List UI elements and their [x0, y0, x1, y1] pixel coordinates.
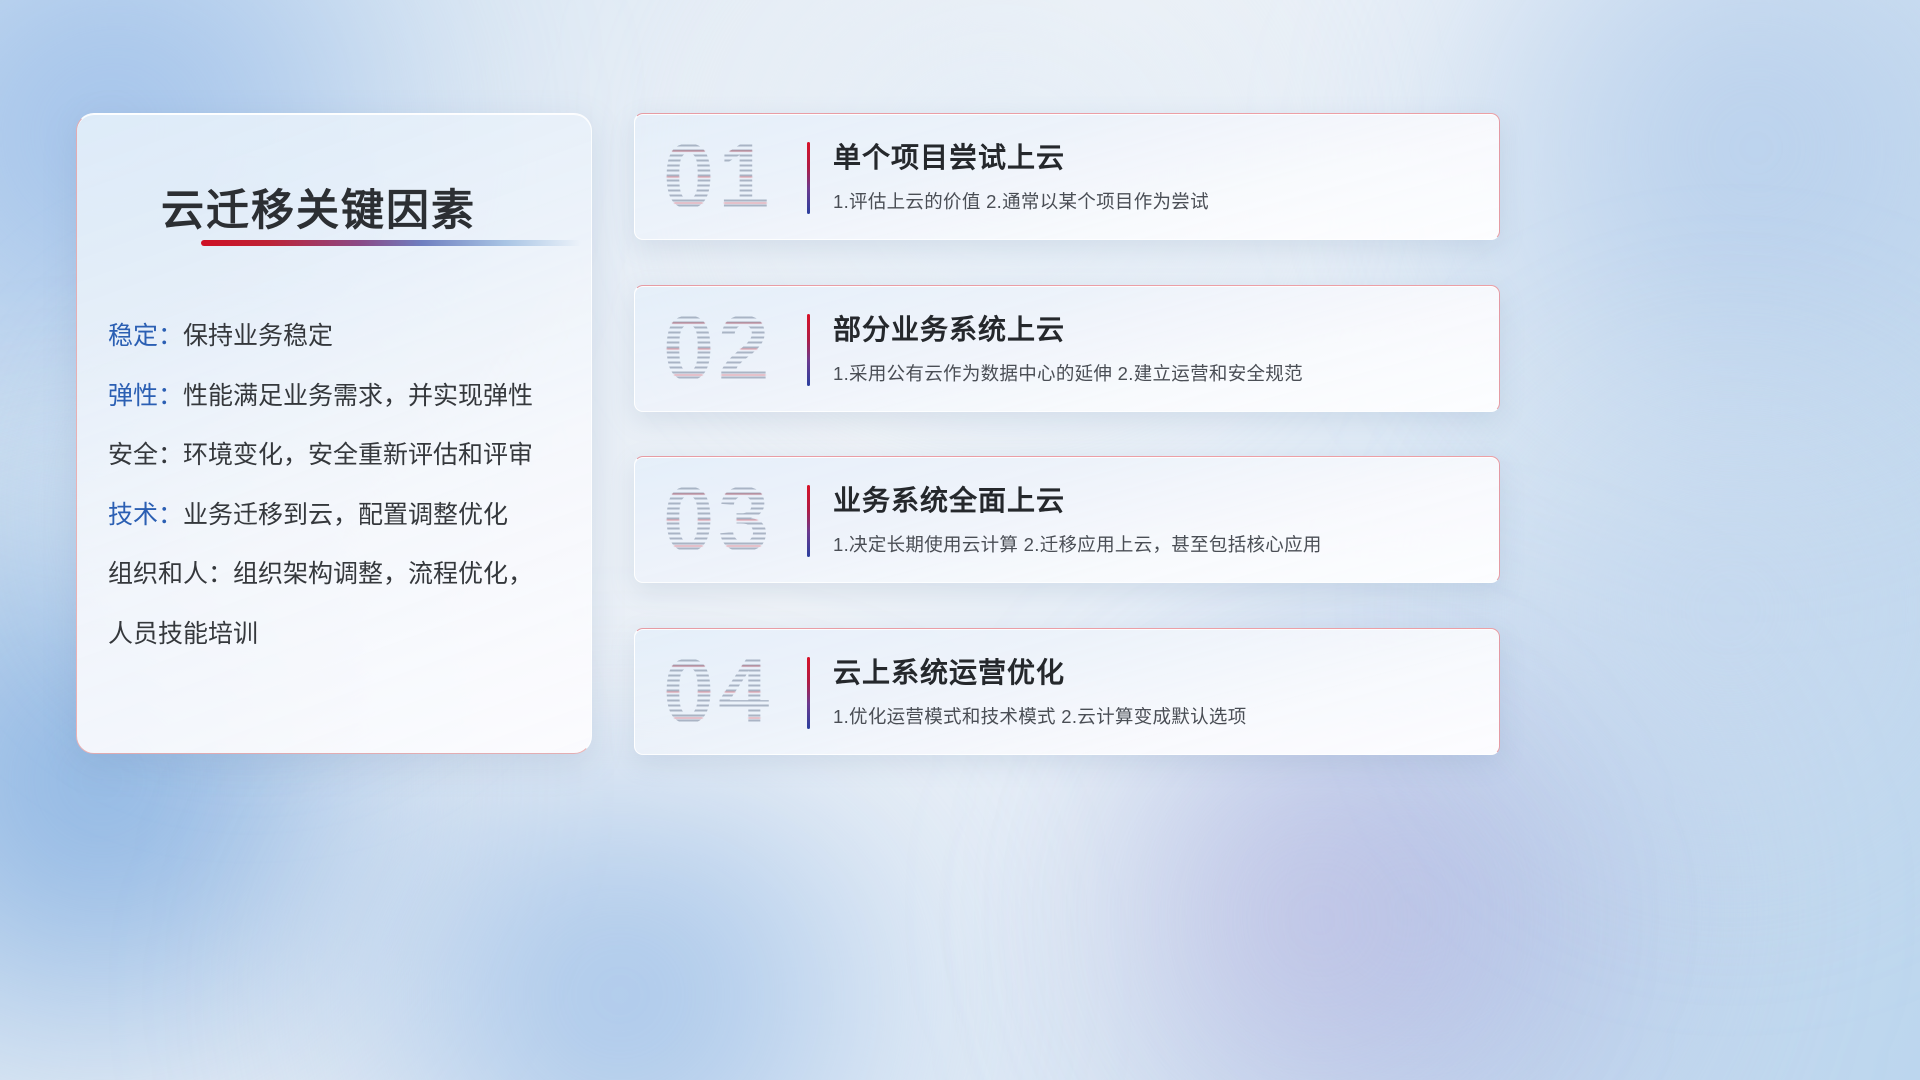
factor-label: 技术： — [108, 501, 183, 529]
factor-list: 稳定：保持业务稳定 弹性：性能满足业务需求，并实现弹性 安全：环境变化，安全重新… — [108, 319, 567, 676]
factor-text: 保持业务稳定 — [183, 322, 333, 350]
stage-accent-bar — [807, 314, 810, 386]
factor-label: 组织和人： — [108, 560, 233, 588]
stage-number: 01 — [663, 124, 773, 229]
factor-text: 性能满足业务需求，并实现弹性 — [183, 382, 533, 410]
factor-text: 环境变化，安全重新评估和评审 — [183, 441, 533, 469]
title-underline-accent — [201, 240, 581, 246]
factor-item: 稳定：保持业务稳定 — [108, 319, 567, 354]
stage-title: 部分业务系统上云 — [833, 312, 1479, 347]
factor-item-continuation: 人员技能培训 — [108, 617, 567, 652]
stage-subtitle: 1.采用公有云作为数据中心的延伸 2.建立运营和安全规范 — [833, 360, 1479, 386]
factor-item: 组织和人：组织架构调整，流程优化， — [108, 557, 567, 592]
stage-subtitle: 1.评估上云的价值 2.通常以某个项目作为尝试 — [833, 188, 1479, 214]
panel-title: 云迁移关键因素 — [161, 176, 476, 238]
factor-label: 稳定： — [108, 322, 183, 350]
stage-card[interactable]: 04 04 云上系统运营优化 1.优化运营模式和技术模式 2.云计算变成默认选项 — [634, 628, 1500, 755]
stage-card[interactable]: 01 01 单个项目尝试上云 1.评估上云的价值 2.通常以某个项目作为尝试 — [634, 113, 1500, 240]
stage-accent-bar — [807, 657, 810, 729]
stage-subtitle: 1.决定长期使用云计算 2.迁移应用上云，甚至包括核心应用 — [833, 531, 1479, 557]
stage-number: 04 — [663, 639, 773, 744]
stage-title: 业务系统全面上云 — [833, 483, 1479, 518]
factor-text: 业务迁移到云，配置调整优化 — [183, 501, 508, 529]
slide-canvas: 云迁移关键因素 稳定：保持业务稳定 弹性：性能满足业务需求，并实现弹性 安全：环… — [0, 0, 1920, 1080]
factor-item: 弹性：性能满足业务需求，并实现弹性 — [108, 379, 567, 414]
stage-accent-bar — [807, 142, 810, 214]
stage-number: 02 — [663, 296, 773, 401]
factor-text: 人员技能培训 — [108, 620, 258, 648]
stage-title: 单个项目尝试上云 — [833, 140, 1479, 175]
factor-label: 安全： — [108, 441, 183, 469]
key-factors-panel: 云迁移关键因素 稳定：保持业务稳定 弹性：性能满足业务需求，并实现弹性 安全：环… — [76, 113, 592, 754]
factor-item: 技术：业务迁移到云，配置调整优化 — [108, 498, 567, 533]
stage-number: 03 — [663, 467, 773, 572]
stage-title: 云上系统运营优化 — [833, 655, 1479, 690]
stage-accent-bar — [807, 485, 810, 557]
stage-card[interactable]: 03 03 业务系统全面上云 1.决定长期使用云计算 2.迁移应用上云，甚至包括… — [634, 456, 1500, 583]
factor-text: 组织架构调整，流程优化， — [233, 560, 533, 588]
stage-card[interactable]: 02 02 部分业务系统上云 1.采用公有云作为数据中心的延伸 2.建立运营和安… — [634, 285, 1500, 412]
stage-subtitle: 1.优化运营模式和技术模式 2.云计算变成默认选项 — [833, 703, 1479, 729]
factor-item: 安全：环境变化，安全重新评估和评审 — [108, 438, 567, 473]
factor-label: 弹性： — [108, 382, 183, 410]
